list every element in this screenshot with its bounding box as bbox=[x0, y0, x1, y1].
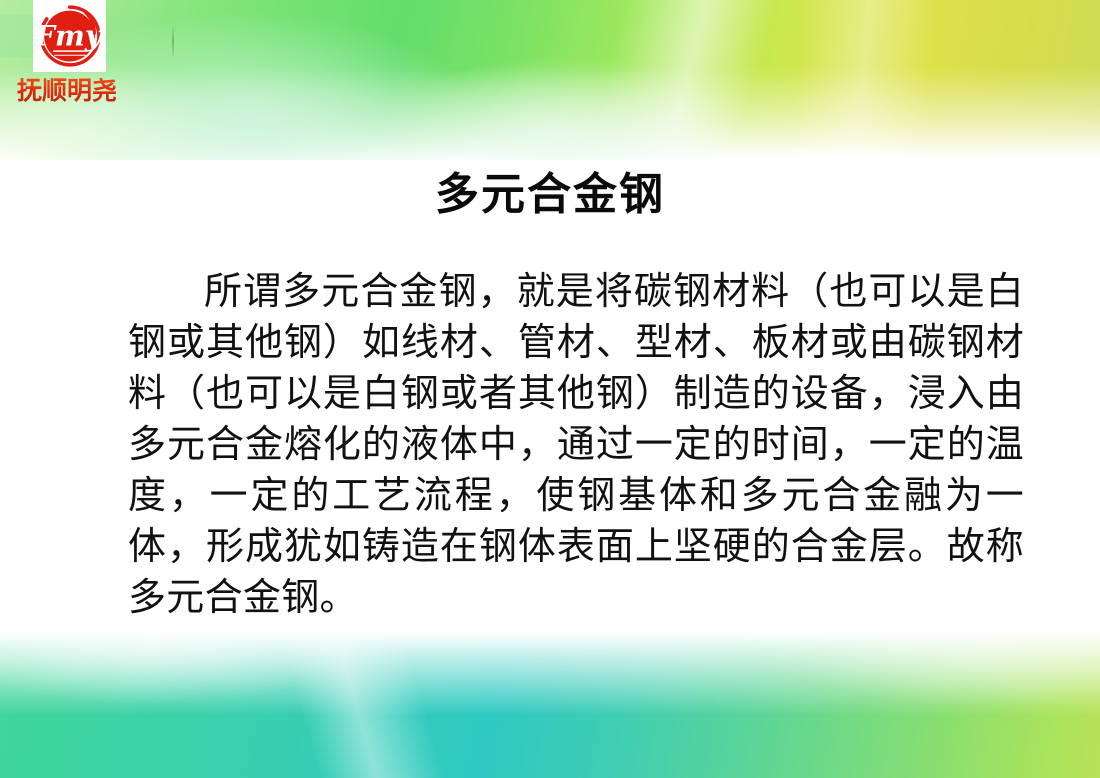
bottom-gradient-band bbox=[0, 630, 1100, 778]
presentation-slide: Fmy 抚顺明尧 多元合金钢 所谓多元合金钢，就是将碳钢材料（也可以是白钢或其他… bbox=[0, 0, 1100, 778]
top-band-vertical-streak bbox=[172, 25, 174, 59]
company-logo: Fmy bbox=[33, 0, 106, 72]
company-name-label: 抚顺明尧 bbox=[17, 78, 127, 103]
slide-title: 多元合金钢 bbox=[0, 170, 1100, 221]
svg-text:Fmy: Fmy bbox=[35, 20, 103, 53]
top-gradient-band bbox=[0, 0, 1100, 160]
slide-body-text: 所谓多元合金钢，就是将碳钢材料（也可以是白钢或其他钢）如线材、管材、型材、板材或… bbox=[128, 266, 1024, 623]
fmy-logo-icon: Fmy bbox=[35, 3, 104, 69]
